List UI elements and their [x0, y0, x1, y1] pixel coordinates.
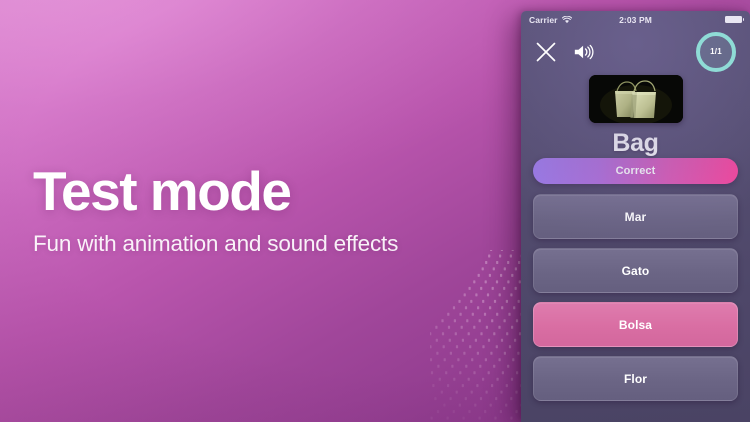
promo-copy: Test mode Fun with animation and sound e…	[33, 164, 483, 257]
promo-subhead: Fun with animation and sound effects	[33, 231, 483, 257]
wifi-icon	[562, 16, 572, 24]
carrier-label: Carrier	[529, 15, 558, 25]
status-bar-right	[725, 16, 742, 23]
speaker-on-icon[interactable]	[573, 42, 595, 62]
phone-mockup: Carrier 2:03 PM	[521, 11, 750, 422]
quiz-top-controls: 1/1	[521, 28, 750, 75]
progress-badge-label: 1/1	[710, 47, 722, 56]
progress-badge: 1/1	[696, 32, 736, 72]
shopping-bags-image	[589, 75, 683, 123]
status-bar-left: Carrier	[529, 15, 572, 25]
close-icon[interactable]	[535, 41, 557, 63]
battery-full-icon	[725, 16, 742, 23]
status-bar: Carrier 2:03 PM	[521, 11, 750, 28]
promo-screenshot: Carrier 2:03 PM	[0, 0, 750, 422]
promo-headline: Test mode	[33, 164, 483, 219]
